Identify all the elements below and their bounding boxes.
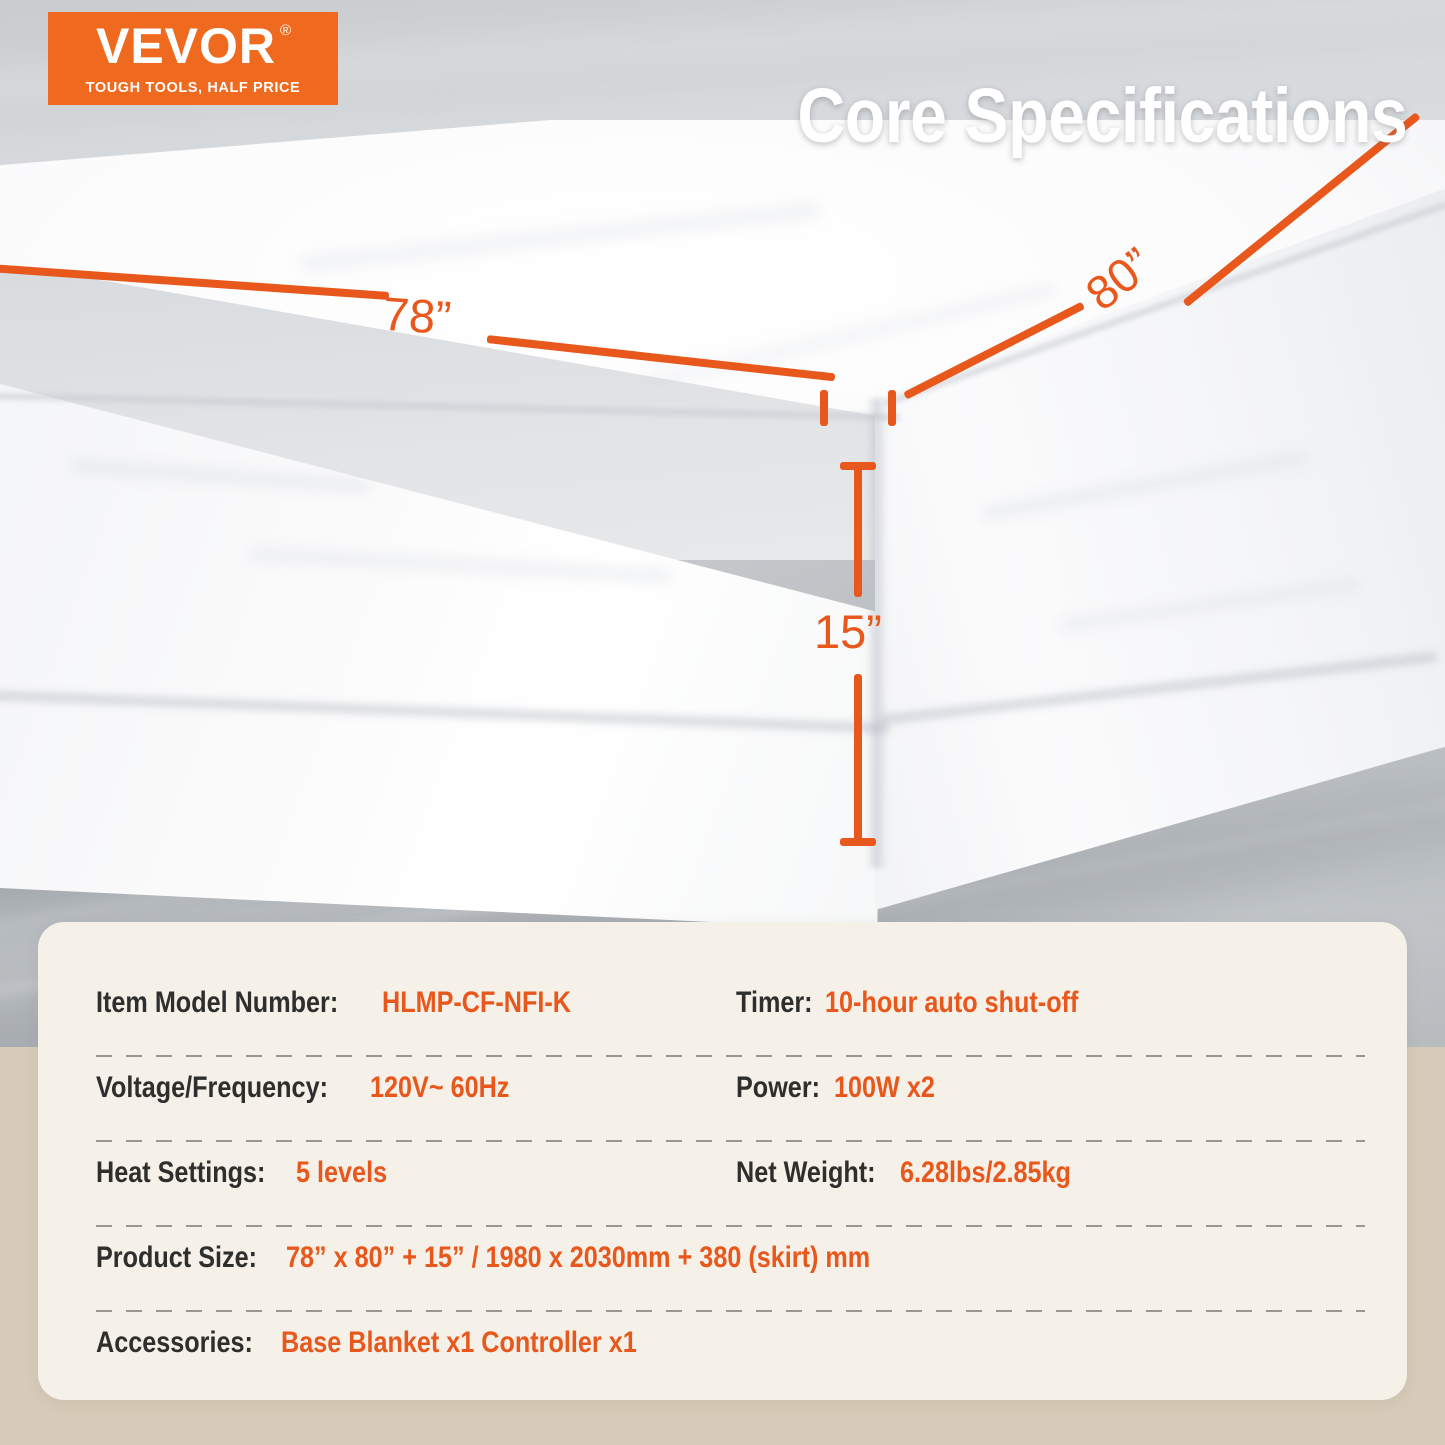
dimension-cap-depth-bottom	[840, 838, 876, 846]
spec-value: 78” x 80” + 15” / 1980 x 2030mm + 380 (s…	[286, 1243, 870, 1273]
spec-value: 100W x2	[834, 1073, 935, 1103]
spec-item-net-weight: Net Weight: 6.28lbs/2.85kg	[736, 1142, 1365, 1188]
spec-item-product-size: Product Size: 78” x 80” + 15” / 1980 x 2…	[96, 1227, 1365, 1273]
spec-item-timer: Timer: 10-hour auto shut-off	[736, 972, 1365, 1018]
spec-row: Item Model Number: HLMP-CF-NFI-K Timer: …	[96, 972, 1365, 1057]
spec-value: 6.28lbs/2.85kg	[900, 1158, 1071, 1188]
registered-trademark-icon: ®	[280, 23, 292, 38]
spec-item-heat-settings: Heat Settings: 5 levels	[96, 1142, 736, 1188]
dimension-label-depth: 15”	[814, 608, 882, 655]
spec-row: Heat Settings: 5 levels Net Weight: 6.28…	[96, 1142, 1365, 1227]
spec-label: Voltage/Frequency:	[96, 1073, 328, 1103]
spec-item-model-number: Item Model Number: HLMP-CF-NFI-K	[96, 972, 736, 1018]
spec-item-power: Power: 100W x2	[736, 1057, 1365, 1103]
dimension-tick-width-end	[820, 390, 828, 426]
spec-label: Heat Settings:	[96, 1158, 265, 1188]
spec-value: Base Blanket x1 Controller x1	[281, 1328, 637, 1358]
specifications-list: Item Model Number: HLMP-CF-NFI-K Timer: …	[96, 972, 1365, 1370]
dimension-label-width: 78”	[381, 290, 452, 342]
brand-name: VEVOR	[96, 18, 276, 74]
page-title: Core Specifications	[797, 78, 1407, 155]
dimension-line-depth-lower	[854, 674, 862, 846]
dimension-line-depth-upper	[854, 462, 862, 597]
spec-label: Power:	[736, 1073, 820, 1103]
spec-value: HLMP-CF-NFI-K	[382, 988, 571, 1018]
spec-value: 5 levels	[296, 1158, 387, 1188]
spec-row: Product Size: 78” x 80” + 15” / 1980 x 2…	[96, 1227, 1365, 1312]
spec-item-accessories: Accessories: Base Blanket x1 Controller …	[96, 1312, 1365, 1358]
mattress-left-face	[0, 330, 900, 930]
spec-label: Item Model Number:	[96, 988, 338, 1018]
spec-value: 120V~ 60Hz	[370, 1073, 509, 1103]
spec-label: Timer:	[736, 988, 813, 1018]
spec-label: Accessories:	[96, 1328, 253, 1358]
spec-item-voltage-frequency: Voltage/Frequency: 120V~ 60Hz	[96, 1057, 736, 1103]
product-spec-infographic: 78” 80” 15” VEVOR® TOUGH TOOLS, HALF PRI…	[0, 0, 1445, 1445]
spec-label: Net Weight:	[736, 1158, 876, 1188]
spec-value: 10-hour auto shut-off	[825, 988, 1078, 1018]
spec-row: Voltage/Frequency: 120V~ 60Hz Power: 100…	[96, 1057, 1365, 1142]
dimension-tick-length-end	[888, 390, 896, 426]
vevor-logo: VEVOR® TOUGH TOOLS, HALF PRICE	[48, 12, 338, 105]
brand-tagline: TOUGH TOOLS, HALF PRICE	[86, 80, 301, 96]
brand-wordmark: VEVOR®	[96, 21, 290, 71]
specifications-panel: Item Model Number: HLMP-CF-NFI-K Timer: …	[38, 922, 1407, 1400]
spec-label: Product Size:	[96, 1243, 257, 1273]
spec-row: Accessories: Base Blanket x1 Controller …	[96, 1312, 1365, 1397]
